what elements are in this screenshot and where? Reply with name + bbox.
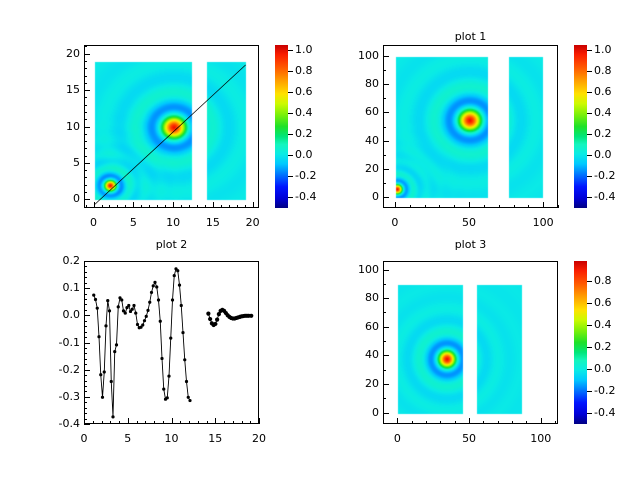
panel-bottom-right-yticklabel: 80	[335, 292, 379, 303]
figure-canvas: 05101520051015201.00.80.60.40.20.0-0.2-0…	[0, 0, 640, 480]
colorbar-bottom-right-ticklabel: 0.8	[594, 275, 638, 286]
ytick	[383, 370, 386, 371]
colorbar-bottom-right-ticklabel: -0.4	[594, 407, 638, 418]
panel-bottom-right-axes-frame	[383, 261, 558, 424]
xtick	[541, 418, 542, 424]
xtick	[498, 421, 499, 424]
panel-bottom-right-yticklabel: 100	[335, 264, 379, 275]
panel-bottom-right-yticklabel: 20	[335, 378, 379, 389]
colorbar-bottom-right-tick	[587, 369, 592, 370]
xtick	[483, 421, 484, 424]
panel-bottom-right-xticklabel: 50	[447, 433, 491, 444]
colorbar-bottom-right-ticklabel: 0.0	[594, 363, 638, 374]
xtick	[412, 421, 413, 424]
colorbar-bottom-right-ticklabel: -0.2	[594, 385, 638, 396]
xtick	[469, 418, 470, 424]
colorbar-bottom-right-tick	[587, 281, 592, 282]
ytick	[383, 284, 386, 285]
ytick	[383, 384, 389, 385]
panel-bottom-right-xticklabel: 100	[519, 433, 563, 444]
colorbar-bottom-right-ticklabel: 0.4	[594, 319, 638, 330]
ytick	[383, 355, 389, 356]
panel-bottom-right-yticklabel: 0	[335, 407, 379, 418]
panel-bottom-right-xticklabel: 0	[375, 433, 419, 444]
panel-bottom-right-yticklabel: 60	[335, 321, 379, 332]
colorbar-bottom-right-ticklabel: 0.6	[594, 297, 638, 308]
xtick	[440, 421, 441, 424]
ytick	[383, 298, 389, 299]
colorbar-bottom-right-tick	[587, 347, 592, 348]
xtick	[526, 421, 527, 424]
xtick	[383, 421, 384, 424]
colorbar-bottom-right-tick	[587, 391, 592, 392]
colorbar-bottom-right-tick	[587, 303, 592, 304]
ytick	[383, 341, 386, 342]
xtick	[555, 421, 556, 424]
ytick	[383, 413, 389, 414]
xtick	[397, 418, 398, 424]
ytick	[383, 327, 389, 328]
colorbar-bottom-right-ticklabel: 0.2	[594, 341, 638, 352]
panel-bottom-right-yticklabel: 40	[335, 349, 379, 360]
xtick	[455, 421, 456, 424]
panel-bottom-right-title: plot 3	[363, 239, 578, 251]
xtick	[512, 421, 513, 424]
panel-bottom-right-heatmap	[384, 262, 558, 424]
ytick	[383, 312, 386, 313]
colorbar-bottom-right	[574, 261, 587, 424]
ytick	[383, 398, 386, 399]
panel-bottom-right: plot 30501000204060801000.80.60.40.20.0-…	[0, 0, 640, 480]
colorbar-bottom-right-gradient	[574, 261, 587, 424]
colorbar-bottom-right-tick	[587, 325, 592, 326]
colorbar-bottom-right-tick	[587, 413, 592, 414]
xtick	[426, 421, 427, 424]
ytick	[383, 270, 389, 271]
